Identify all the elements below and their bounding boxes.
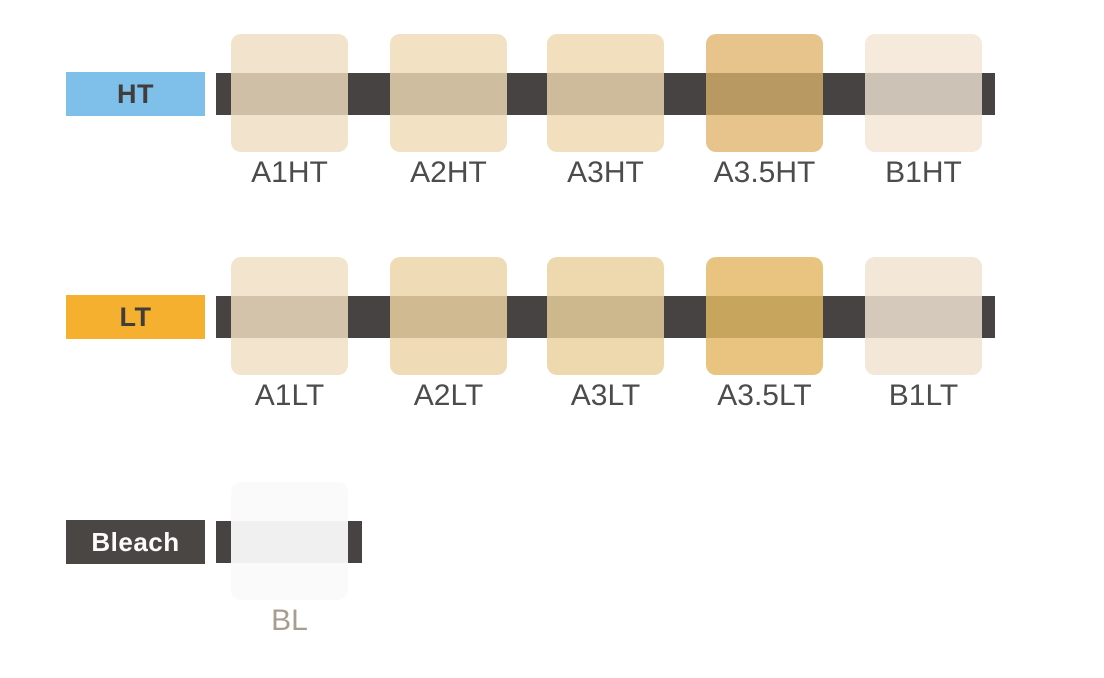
swatch-band — [547, 73, 664, 115]
shade-swatch-b1lt[interactable]: B1LT — [865, 257, 982, 375]
swatch-band — [547, 296, 664, 338]
shade-swatch-bl[interactable]: BL — [231, 482, 348, 600]
shade-swatch-a3ht[interactable]: A3HT — [547, 34, 664, 152]
shade-label-a3lt: A3LT — [531, 379, 680, 413]
shade-label-bl: BL — [215, 604, 364, 638]
shade-swatch-b1ht[interactable]: B1HT — [865, 34, 982, 152]
swatch-band — [706, 296, 823, 338]
swatch-band — [390, 296, 507, 338]
swatch-band — [231, 521, 348, 563]
shade-label-a2ht: A2HT — [374, 156, 523, 190]
shade-guide: HT A1HT A2HT A3HT A3.5HT — [0, 0, 1104, 674]
shade-swatch-a3lt[interactable]: A3LT — [547, 257, 664, 375]
swatch-band — [706, 73, 823, 115]
swatch-track-ht: A1HT A2HT A3HT A3.5HT B1HT — [0, 0, 1104, 230]
shade-label-a2lt: A2LT — [374, 379, 523, 413]
shade-swatch-a1ht[interactable]: A1HT — [231, 34, 348, 152]
shade-label-a1lt: A1LT — [215, 379, 364, 413]
swatch-band — [865, 73, 982, 115]
shade-swatch-a2ht[interactable]: A2HT — [390, 34, 507, 152]
swatch-track-bleach: BL — [0, 448, 1104, 678]
shade-label-b1lt: B1LT — [849, 379, 998, 413]
shade-label-a35ht: A3.5HT — [690, 156, 839, 190]
shade-swatch-a35lt[interactable]: A3.5LT — [706, 257, 823, 375]
swatch-track-lt: A1LT A2LT A3LT A3.5LT B1LT — [0, 223, 1104, 453]
swatch-band — [231, 296, 348, 338]
shade-row-lt: LT A1LT A2LT A3LT A3.5LT — [0, 223, 1104, 453]
swatch-band — [231, 73, 348, 115]
shade-label-a3ht: A3HT — [531, 156, 680, 190]
swatch-band — [390, 73, 507, 115]
shade-swatch-a35ht[interactable]: A3.5HT — [706, 34, 823, 152]
shade-label-a35lt: A3.5LT — [690, 379, 839, 413]
shade-label-b1ht: B1HT — [849, 156, 998, 190]
swatch-band — [865, 296, 982, 338]
shade-swatch-a1lt[interactable]: A1LT — [231, 257, 348, 375]
shade-row-ht: HT A1HT A2HT A3HT A3.5HT — [0, 0, 1104, 230]
shade-label-a1ht: A1HT — [215, 156, 364, 190]
shade-swatch-a2lt[interactable]: A2LT — [390, 257, 507, 375]
shade-row-bleach: Bleach BL — [0, 448, 1104, 674]
